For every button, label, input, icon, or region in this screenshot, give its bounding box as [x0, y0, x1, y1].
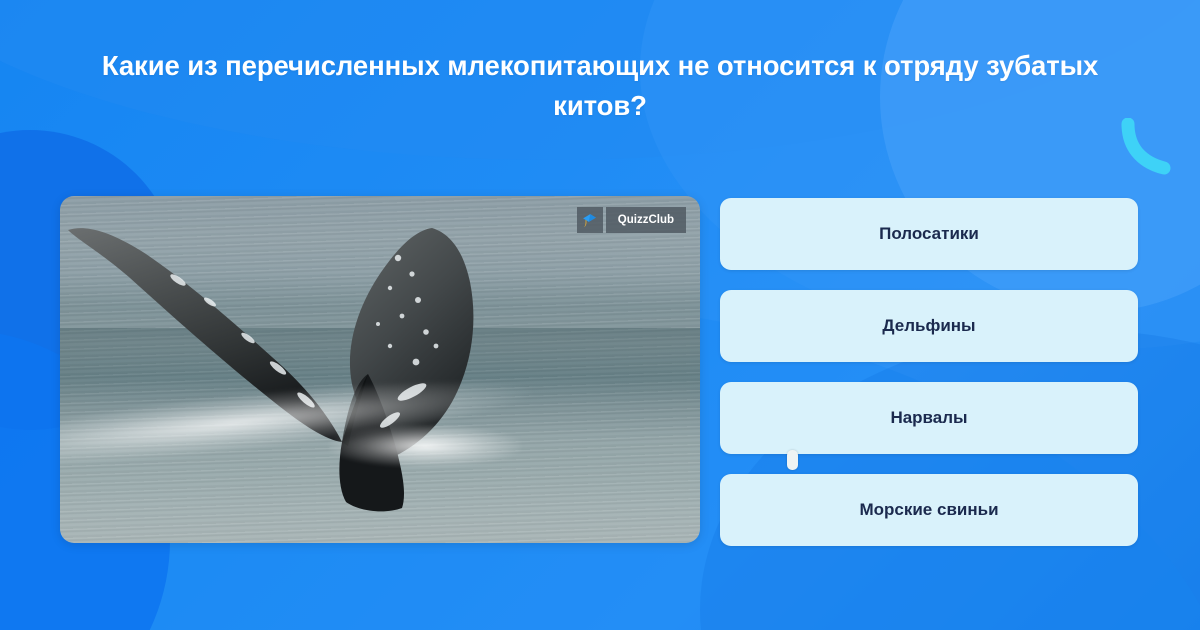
- watermark-badge: QuizzClub: [577, 207, 686, 233]
- answer-option-2[interactable]: Дельфины: [720, 290, 1138, 362]
- page-title: Какие из перечисленных млекопитающих не …: [60, 46, 1140, 126]
- answer-option-3[interactable]: Нарвалы: [720, 382, 1138, 454]
- question-image-card: QuizzClub: [60, 196, 700, 543]
- answer-option-label: Дельфины: [882, 316, 975, 336]
- ocean-photo: [60, 196, 700, 543]
- scroll-handle[interactable]: [787, 450, 798, 470]
- answer-option-label: Полосатики: [879, 224, 979, 244]
- quiz-card: Какие из перечисленных млекопитающих не …: [0, 0, 1200, 630]
- answer-option-4[interactable]: Морские свиньи: [720, 474, 1138, 546]
- answer-option-label: Нарвалы: [890, 408, 967, 428]
- answer-options-list: Полосатики Дельфины Нарвалы Морские свин…: [720, 198, 1138, 546]
- answer-option-label: Морские свиньи: [859, 500, 998, 520]
- answer-option-1[interactable]: Полосатики: [720, 198, 1138, 270]
- splash-foam: [329, 425, 521, 467]
- whale-fluke-icon: [60, 196, 700, 543]
- graduation-cap-icon: [577, 207, 603, 233]
- cyan-hook-accent-icon: [1118, 118, 1180, 180]
- watermark-brand-label: QuizzClub: [606, 207, 686, 233]
